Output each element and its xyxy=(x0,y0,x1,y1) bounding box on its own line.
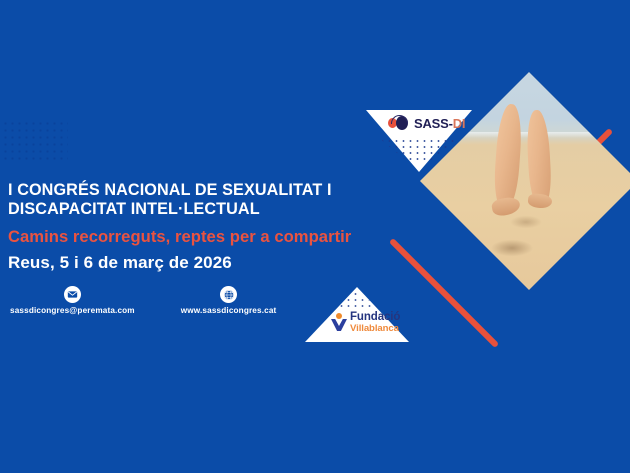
person-body-shape xyxy=(331,319,347,331)
contact-email[interactable]: sassdicongres@peremata.com xyxy=(10,286,135,315)
fundacio-wordmark: Fundació Villablanca xyxy=(350,312,400,334)
globe-icon xyxy=(220,286,237,303)
beach-footprints-photo xyxy=(420,72,630,290)
sassdi-mark-icon xyxy=(388,116,408,130)
envelope-icon xyxy=(64,286,81,303)
person-head-shape xyxy=(336,313,342,319)
leg-right-shape xyxy=(526,109,553,206)
poster-text-block: I CONGRÉS NACIONAL DE SEXUALITAT I DISCA… xyxy=(8,181,428,274)
page-title: I CONGRÉS NACIONAL DE SEXUALITAT I DISCA… xyxy=(8,181,428,219)
contact-website[interactable]: www.sassdicongres.cat xyxy=(181,286,277,315)
fundacio-dot-pattern xyxy=(331,291,383,311)
diamond-photo-group xyxy=(412,98,630,328)
person-icon xyxy=(331,313,347,331)
photo-surface xyxy=(420,72,630,290)
foot-left-shape xyxy=(491,196,522,218)
contact-website-label: www.sassdicongres.cat xyxy=(181,306,277,315)
fundacio-wordmark-line2: Villablanca xyxy=(350,324,400,334)
congress-poster: I CONGRÉS NACIONAL DE SEXUALITAT I DISCA… xyxy=(0,0,630,473)
contact-row: sassdicongres@peremata.com www.sassdicon… xyxy=(10,286,276,315)
dot-grid-decoration xyxy=(2,120,68,164)
fundacio-wordmark-line1: Fundació xyxy=(350,312,400,324)
fundacio-villablanca-logo: Fundació Villablanca xyxy=(305,287,409,342)
poster-subtitle: Camins recorreguts, reptes per a compart… xyxy=(8,227,428,247)
leg-left-shape xyxy=(492,103,523,208)
contact-email-label: sassdicongres@peremata.com xyxy=(10,306,135,315)
poster-dateline: Reus, 5 i 6 de març de 2026 xyxy=(8,253,428,273)
